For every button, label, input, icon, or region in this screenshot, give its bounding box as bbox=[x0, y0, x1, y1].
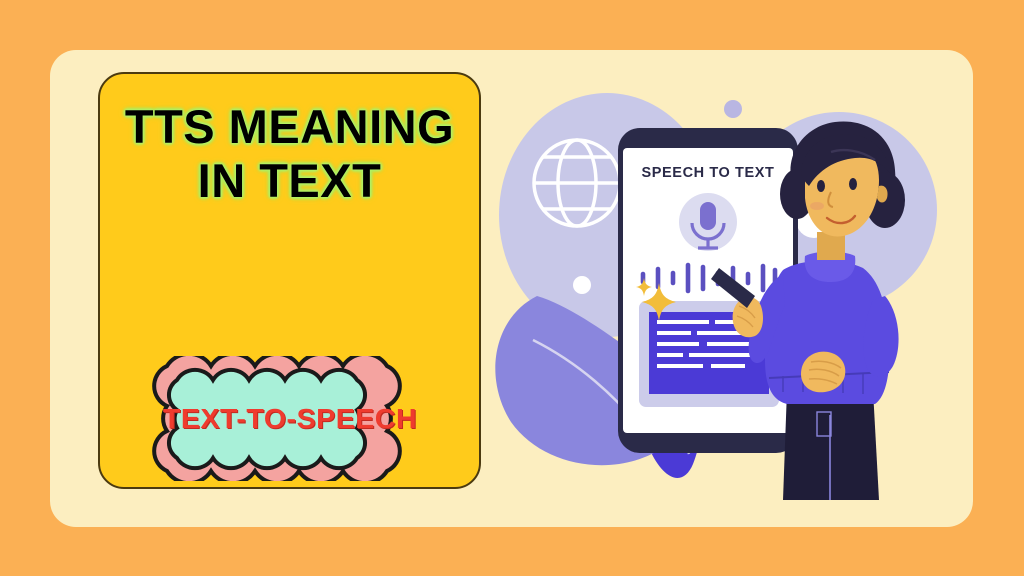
person-pants bbox=[783, 390, 879, 500]
badge-label: TEXT-TO-SPEECH bbox=[112, 356, 469, 481]
poster-canvas: TTS MEANING IN TEXT TEXT-TO-SPEECH bbox=[0, 0, 1024, 576]
page-title: TTS MEANING IN TEXT bbox=[100, 100, 479, 208]
title-line-2: IN TEXT bbox=[100, 154, 479, 208]
lavender-dot bbox=[724, 100, 742, 118]
person-eye-right bbox=[849, 178, 857, 190]
phone-screen-title: SPEECH TO TEXT bbox=[641, 165, 774, 181]
person-blush bbox=[810, 202, 824, 210]
title-line-1: TTS MEANING bbox=[100, 100, 479, 154]
person-eye-left bbox=[817, 180, 825, 192]
illustration-panel: SPEECH TO TEXT bbox=[487, 60, 973, 527]
title-card: TTS MEANING IN TEXT TEXT-TO-SPEECH bbox=[98, 72, 481, 489]
text-to-speech-badge: TEXT-TO-SPEECH bbox=[115, 356, 465, 481]
white-dot-small bbox=[573, 276, 591, 294]
microphone-icon bbox=[679, 193, 737, 251]
